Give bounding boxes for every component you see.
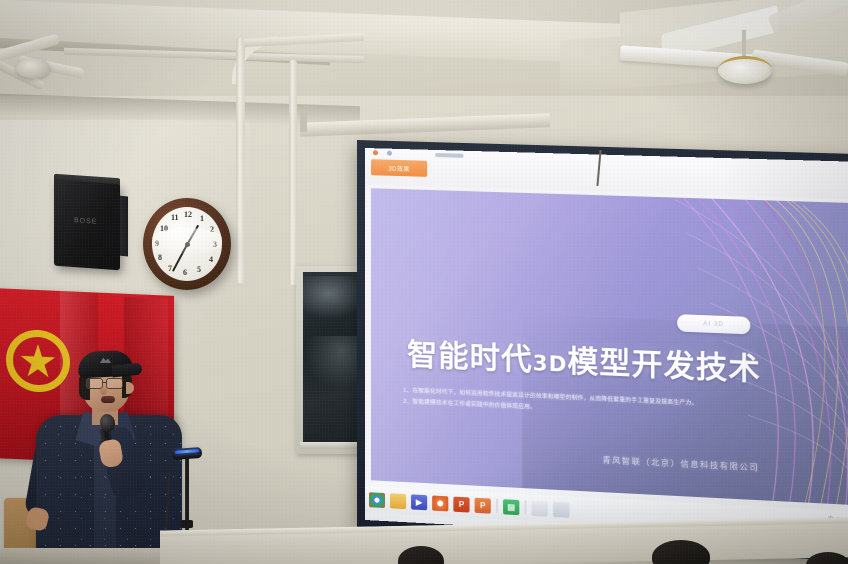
projection-screen[interactable]: 3D效果	[365, 148, 848, 547]
ceiling-fan-hub	[718, 56, 772, 84]
clock-numeral: 6	[183, 268, 187, 277]
app-icon[interactable]	[532, 500, 548, 516]
glasses-bridge	[103, 382, 107, 383]
mic-stand-clamp[interactable]	[181, 520, 193, 528]
slide-title-part-1: 智能时代	[407, 338, 533, 379]
chrome-dot-icon	[387, 151, 392, 156]
wechat-icon[interactable]: ▤	[503, 499, 519, 515]
clock-center-pin	[185, 242, 190, 247]
app-icon-2[interactable]	[553, 501, 569, 517]
slide-pill-badge: AI 3D	[677, 314, 750, 334]
slide-thumbnail-tab-label: 3D效果	[388, 163, 409, 173]
browser-icon[interactable]	[432, 495, 448, 511]
clock-numeral: 1	[200, 214, 204, 223]
clock-numeral: 9	[155, 239, 159, 248]
taskbar-separator	[496, 499, 498, 513]
clock-numeral: 10	[160, 224, 168, 233]
powerpoint-icon[interactable]: P	[453, 496, 469, 512]
clock-numeral: 8	[158, 253, 162, 262]
presenter-nose	[100, 386, 107, 395]
clock-numeral: 3	[213, 240, 217, 249]
screen-roller-bracket	[300, 110, 307, 132]
ceiling-fan-hub	[16, 58, 50, 78]
slide-pill-label: AI 3D	[703, 321, 724, 328]
chrome-tab-line	[435, 153, 463, 158]
taskbar-separator	[524, 500, 526, 514]
clock-numeral: 12	[184, 210, 192, 219]
wall-pipe	[236, 38, 245, 283]
ceiling-fan-rod	[742, 30, 746, 58]
video-player-icon[interactable]: ▶	[411, 494, 427, 510]
chrome-dot-icon	[373, 150, 378, 155]
slide-thumbnail-tab[interactable]: 3D效果	[371, 159, 427, 177]
folder-icon[interactable]	[390, 493, 406, 509]
clock-numeral: 4	[209, 255, 213, 264]
presenter-mouth	[101, 396, 115, 403]
slide-title-3d: 3D	[533, 351, 568, 377]
wall-pipe-secondary	[289, 60, 297, 285]
glasses-lens-right	[106, 378, 123, 389]
clock-numeral: 5	[197, 265, 201, 274]
clock-numeral: 7	[168, 264, 172, 273]
presentation-slide[interactable]: AI 3D 智能时代3D模型开发技术 1、在智能化时代下，如何运用软件技术提高设…	[371, 188, 848, 505]
clock-numeral: 11	[171, 213, 179, 222]
clock-numeral: 2	[210, 225, 214, 234]
powerpoint-icon-2[interactable]: P	[475, 497, 491, 513]
chrome-icon[interactable]	[369, 492, 385, 508]
photo-scene: BOSE 12 1 2 3 4 5 6 7 8 9 10 11 3D效果	[0, 0, 848, 564]
desk-front	[0, 548, 180, 564]
slide-title-part-2: 模型开发技术	[567, 344, 760, 388]
